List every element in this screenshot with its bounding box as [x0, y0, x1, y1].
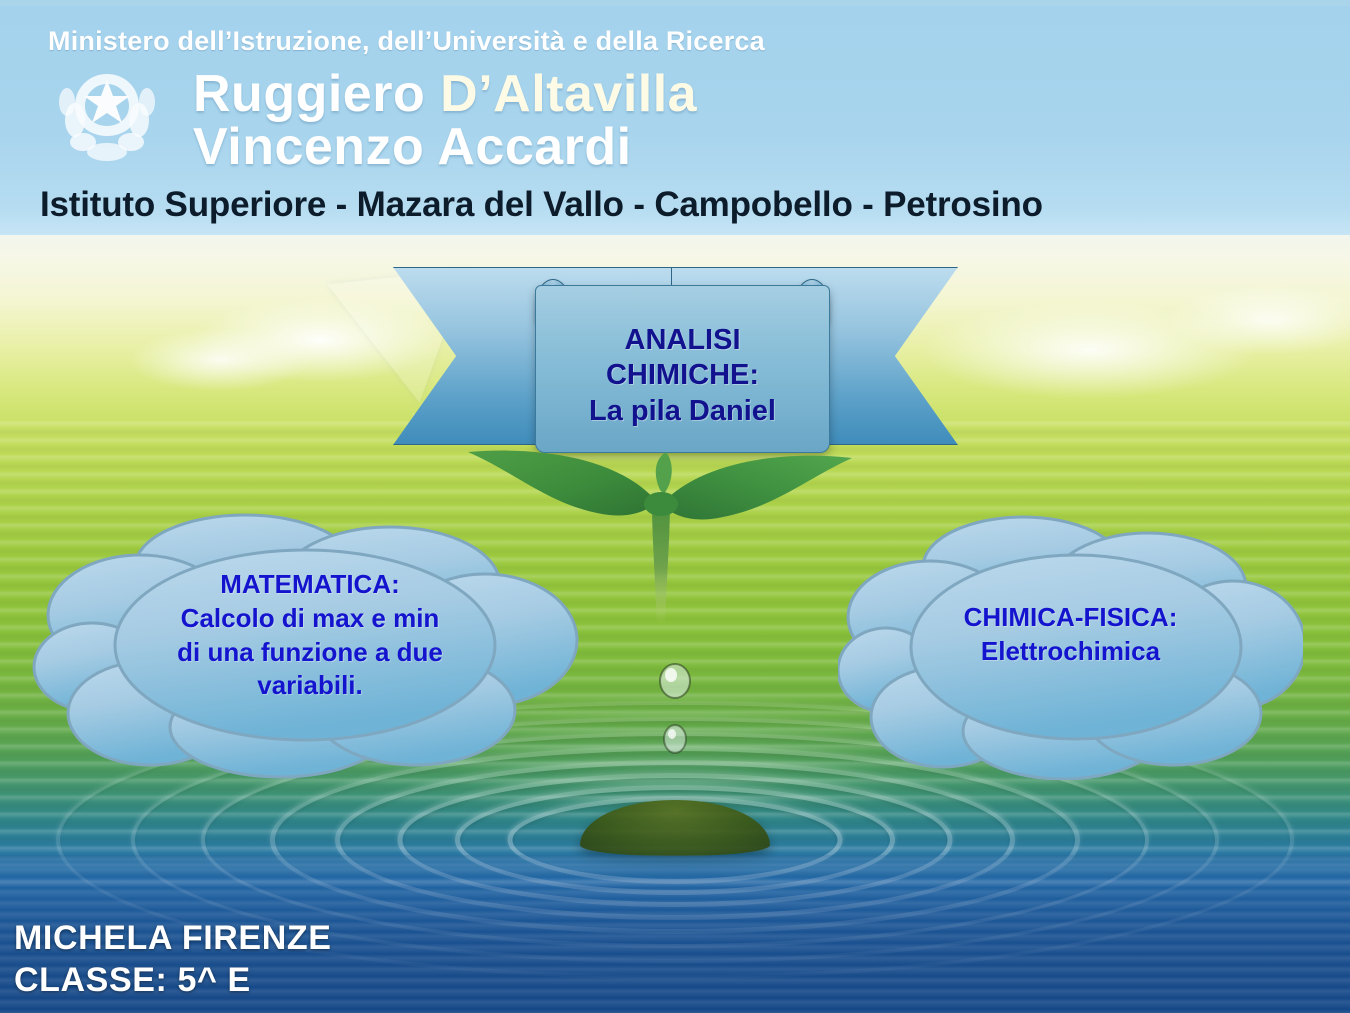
- ministry-line: Ministero dell’Istruzione, dell’Universi…: [48, 26, 765, 57]
- author-footer: MICHELA FIRENZE CLASSE: 5^ E: [14, 918, 332, 1001]
- institute-line: Istituto Superiore - Mazara del Vallo - …: [40, 185, 1043, 225]
- cloud-left-text: MATEMATICA: Calcolo di max e min di una …: [177, 568, 443, 717]
- title-ribbon: ANALISI CHIMICHE: La pila Daniel: [393, 263, 958, 453]
- cloud-right-line-1: Elettrochimica: [964, 635, 1178, 669]
- cloud-left-line-2: di una funzione a due: [177, 636, 443, 670]
- ribbon-subtitle: La pila Daniel: [589, 394, 776, 429]
- school-name-line1-a: Ruggiero: [193, 65, 440, 123]
- school-name-line2: Vincenzo Accardi: [193, 121, 697, 174]
- cloud-left-line-3: variabili.: [177, 669, 443, 703]
- author-name: MICHELA FIRENZE: [14, 918, 332, 959]
- school-header-banner: Ministero dell’Istruzione, dell’Universi…: [0, 6, 1350, 235]
- school-name-line1-b: D’Altavilla: [440, 65, 697, 123]
- ribbon-title-line1: ANALISI: [625, 323, 741, 358]
- school-name: Ruggiero D’Altavilla Vincenzo Accardi: [193, 68, 697, 174]
- italian-republic-emblem-icon: [53, 72, 161, 176]
- author-class: CLASSE: 5^ E: [14, 960, 332, 1001]
- cloud-matematica[interactable]: MATEMATICA: Calcolo di max e min di una …: [30, 505, 590, 780]
- presentation-slide: Ministero dell’Istruzione, dell’Universi…: [0, 0, 1350, 1013]
- water-droplet-icon: [650, 655, 700, 765]
- cloud-right-subject: CHIMICA-FISICA:: [964, 601, 1178, 635]
- cloud-right-text: CHIMICA-FISICA: Elettrochimica: [964, 601, 1178, 685]
- cloud-left-subject: MATEMATICA:: [177, 568, 443, 602]
- cloud-chimica-fisica[interactable]: CHIMICA-FISICA: Elettrochimica: [838, 505, 1303, 780]
- ribbon-title-line2: CHIMICHE:: [606, 358, 759, 393]
- cloud-left-line-1: Calcolo di max e min: [177, 602, 443, 636]
